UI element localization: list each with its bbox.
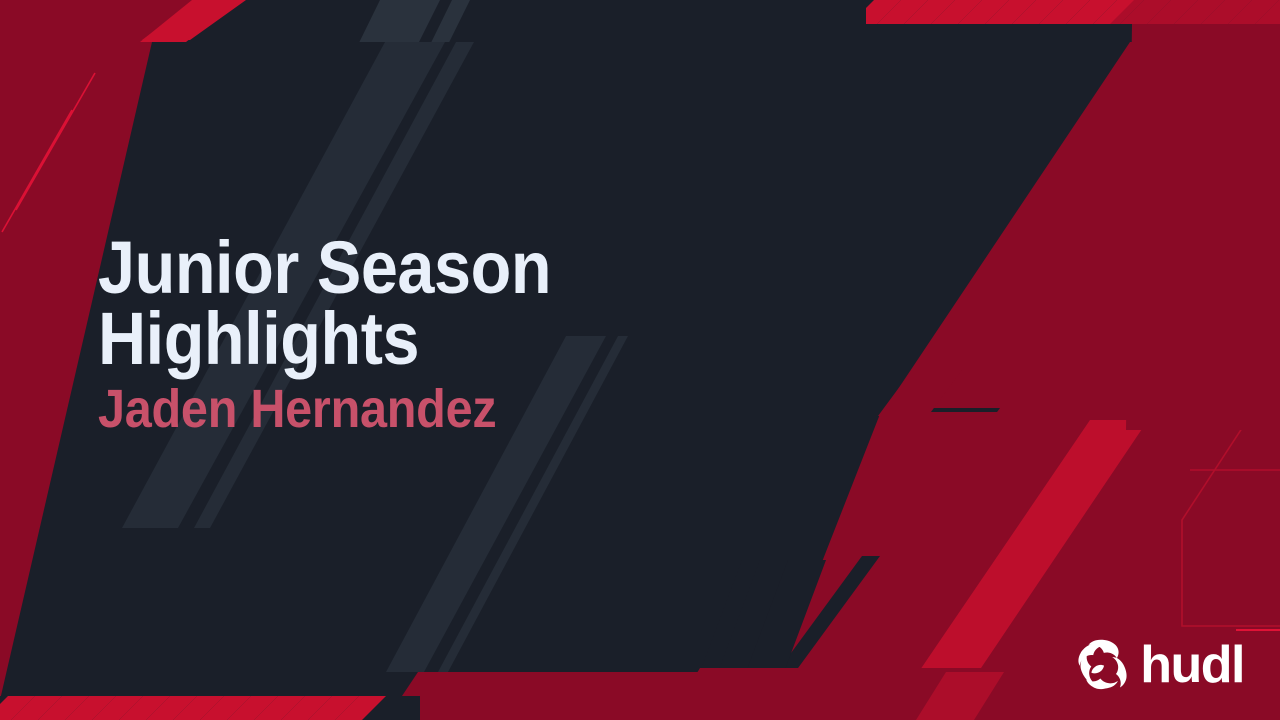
- highlight-video-title-card: Junior Season Highlights Jaden Hernandez…: [0, 0, 1280, 720]
- hudl-swirl-icon: [1072, 636, 1130, 694]
- title-line-1: Junior Season: [98, 232, 656, 303]
- player-name: Jaden Hernandez: [98, 382, 656, 436]
- title-line-2: Highlights: [98, 303, 656, 374]
- title-block: Junior Season Highlights Jaden Hernandez: [98, 232, 718, 436]
- hudl-logo-lockup: hudl: [1072, 636, 1244, 694]
- hudl-wordmark: hudl: [1140, 639, 1244, 691]
